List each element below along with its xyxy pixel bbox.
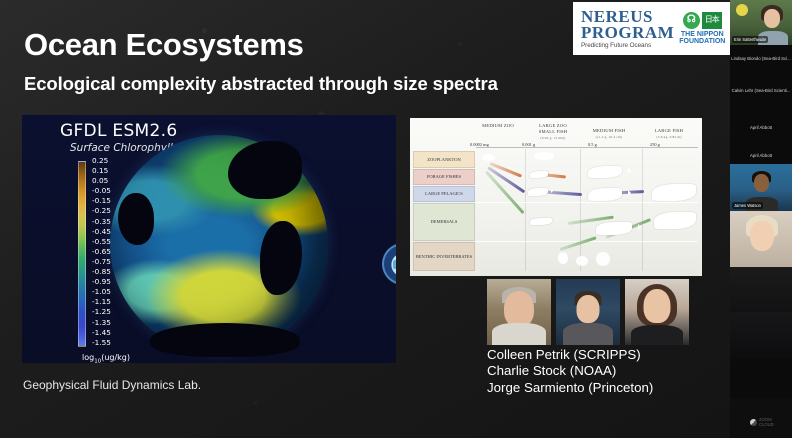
mass-tick-3: 250 g <box>650 142 660 147</box>
participant-4-name: April Abbott <box>750 153 772 158</box>
participant-tile-0[interactable]: Erin Satterthwaite <box>730 0 792 45</box>
mass-tick-1: 0.001 g <box>522 142 535 147</box>
photo-charlie-stock <box>556 279 620 345</box>
colorbar-tick-12: -0.95 <box>92 277 138 287</box>
landmass-antarctica <box>150 323 300 357</box>
organism-large-demersal <box>654 212 696 229</box>
organism-large-pelagic <box>652 184 696 201</box>
photo-3-face <box>644 289 671 323</box>
group-row-benthic-invertebrates: BENTHIC INVERTEBRATES <box>413 242 475 271</box>
size-spectra-diagram: MEDIUM ZOO LARGE ZOO SMALL FISH (0.02 g,… <box>410 118 702 276</box>
participant-2-name: Calvin Lehr (Sea-Bird Scienti... <box>732 88 791 93</box>
size-class-header-0: MEDIUM ZOO <box>472 123 524 129</box>
badge-inner-shape <box>393 260 396 269</box>
participant-0-badge-icon <box>736 4 748 16</box>
participant-tile-4[interactable]: April Abbott <box>730 146 792 164</box>
participant-1-name: Lindsay Biondo (Sea-Bird Sci... <box>731 56 790 61</box>
size-axis-line <box>476 147 698 148</box>
organism-medium-fish-2 <box>588 188 622 201</box>
photo-3-body <box>631 325 683 345</box>
participant-tile-6[interactable] <box>730 211 792 267</box>
colorbar-tick-0: 0.25 <box>92 156 138 166</box>
nippon-swirl-icon: ☊ <box>683 12 700 29</box>
zoom-meeting-screen: Ocean Ecosystems Ecological complexity a… <box>0 0 792 438</box>
group-row-zooplankton: ZOOPLANKTON <box>413 151 475 168</box>
colorbar-tick-labels: 0.250.150.05-0.05-0.15-0.25-0.35-0.45-0.… <box>92 156 138 352</box>
chlorophyll-colorbar <box>78 161 86 347</box>
colorbar-tick-17: -1.45 <box>92 328 138 338</box>
size-class-header-1: LARGE ZOO SMALL FISH (0.02 g, 13 mm) <box>527 123 579 141</box>
colorbar-tick-11: -0.85 <box>92 267 138 277</box>
nereus-wordmark: NEREUS PROGRAM Predicting Future Oceans <box>581 8 674 49</box>
shared-slide: Ocean Ecosystems Ecological complexity a… <box>0 0 730 438</box>
colorbar-tick-7: -0.45 <box>92 227 138 237</box>
photo-jorge-sarmiento <box>625 279 689 345</box>
participant-tile-1[interactable]: Lindsay Biondo (Sea-Bird Sci... <box>730 45 792 72</box>
mass-tick-2: 0.5 g <box>588 142 597 147</box>
nippon-mark: ☊ 日本 <box>683 12 722 29</box>
colorbar-unit-rest: (ug/kg) <box>101 353 130 362</box>
photo-colleen-petrik <box>487 279 551 345</box>
organism-zooplankton-1 <box>482 154 495 161</box>
organism-benthic-1 <box>558 252 568 264</box>
colorbar-tick-15: -1.25 <box>92 307 138 317</box>
nippon-foundation-logo: ☊ 日本 THE NIPPON FOUNDATION <box>679 12 725 46</box>
size-class-divider-3 <box>642 149 643 271</box>
colorbar-tick-14: -1.15 <box>92 297 138 307</box>
colorbar-tick-13: -1.05 <box>92 287 138 297</box>
colorbar-unit-main: log <box>82 353 94 362</box>
watermark-line-2: CLOUD <box>759 423 774 428</box>
page-subtitle: Ecological complexity abstracted through… <box>24 73 498 95</box>
size-class-divider-2 <box>580 149 581 271</box>
organism-benthic-3 <box>596 252 610 266</box>
mass-tick-0: 0.0002 mg <box>470 142 489 147</box>
page-title: Ocean Ecosystems <box>24 27 304 63</box>
colorbar-tick-9: -0.65 <box>92 247 138 257</box>
collaborator-name-1: Charlie Stock (NOAA) <box>487 363 653 379</box>
participant-3-name: April Abbott <box>750 125 772 130</box>
colorbar-tick-16: -1.35 <box>92 318 138 328</box>
size-class-header-2: MEDIUM FISH (11.2 g, 10.4 cm) <box>582 128 636 140</box>
collaborator-name-2: Jorge Sarmiento (Princeton) <box>487 380 653 396</box>
organism-small-fish-1 <box>530 171 548 178</box>
colorbar-unit-label: log10(ug/kg) <box>82 353 130 363</box>
photo-2-body <box>563 323 613 345</box>
colorbar-tick-2: 0.05 <box>92 176 138 186</box>
participant-tile-8[interactable] <box>730 312 792 358</box>
organism-small-fish-2 <box>528 188 548 196</box>
collaborator-name-0: Colleen Petrik (SCRIPPS) <box>487 347 653 363</box>
participant-tile-3[interactable]: April Abbott <box>730 108 792 146</box>
nippon-logo-line1: THE NIPPON <box>681 31 724 38</box>
colorbar-tick-10: -0.75 <box>92 257 138 267</box>
photo-1-body <box>492 323 546 345</box>
participant-filmstrip[interactable]: Erin Satterthwaite Lindsay Biondo (Sea-B… <box>730 0 792 438</box>
participant-tile-5[interactable]: James Watson <box>730 164 792 211</box>
participant-0-face <box>764 9 780 28</box>
organism-zooplankton-2 <box>534 152 554 160</box>
gfdl-globe-figure: GFDL ESM2.6 Surface Chlorophyll 0.250.15… <box>22 115 396 363</box>
colorbar-tick-4: -0.15 <box>92 196 138 206</box>
colorbar-tick-1: 0.15 <box>92 166 138 176</box>
photo-2-face <box>577 295 600 323</box>
nereus-logo-tagline: Predicting Future Oceans <box>581 43 674 49</box>
nippon-kanji-icon: 日本 <box>702 12 722 29</box>
group-row-demersals: DEMERSALS <box>413 203 475 241</box>
size-class-divider-1 <box>525 149 526 271</box>
zoom-logo-icon <box>750 419 757 426</box>
nereus-logo-line2: PROGRAM <box>581 24 674 41</box>
nereus-circular-badge-icon <box>382 243 396 285</box>
landmass-south-america <box>260 221 302 295</box>
zoom-watermark-text: ZOOM CLOUD <box>759 418 774 427</box>
organism-medium-demersal <box>596 222 632 235</box>
organism-medium-fish-1 <box>588 166 622 178</box>
colorbar-tick-18: -1.55 <box>92 338 138 348</box>
collaborator-photos <box>487 279 689 345</box>
colorbar-tick-5: -0.25 <box>92 206 138 216</box>
participant-tile-2[interactable]: Calvin Lehr (Sea-Bird Scienti... <box>730 72 792 108</box>
colorbar-tick-6: -0.35 <box>92 217 138 227</box>
participant-5-face <box>754 174 769 192</box>
figure-caption: Geophysical Fluid Dynamics Lab. <box>23 378 201 392</box>
group-row-large-pelagics: LARGE PELAGICS <box>413 186 475 202</box>
nereus-program-logo: NEREUS PROGRAM Predicting Future Oceans … <box>573 2 738 55</box>
gfdl-variable-label: Surface Chlorophyll <box>70 142 173 154</box>
participant-tile-7[interactable] <box>730 267 792 312</box>
group-row-forage-fishes: FORAGE FISHES <box>413 169 475 185</box>
nippon-logo-line2: FOUNDATION <box>679 38 725 45</box>
colorbar-tick-3: -0.05 <box>92 186 138 196</box>
participant-tile-9[interactable] <box>730 358 792 398</box>
collaborator-names: Colleen Petrik (SCRIPPS) Charlie Stock (… <box>487 347 653 396</box>
gfdl-model-title: GFDL ESM2.6 <box>60 121 177 141</box>
colorbar-tick-8: -0.55 <box>92 237 138 247</box>
organism-demersal-small <box>530 218 552 225</box>
participant-6-face <box>750 221 774 251</box>
photo-1-face <box>504 291 534 327</box>
group-divider-1 <box>476 202 698 203</box>
earth-globe-visualization <box>110 135 328 353</box>
landmass-north-america <box>228 141 302 199</box>
flow-arrow-green-4 <box>560 236 597 251</box>
zoom-cloud-watermark: ZOOM CLOUD <box>750 418 774 427</box>
participant-0-name: Erin Satterthwaite <box>732 36 768 43</box>
organism-benthic-2 <box>576 256 588 266</box>
size-class-header-3: LARGE FISH (3.6 kg, 0.82 m) <box>642 128 696 140</box>
participant-5-name: James Watson <box>732 202 763 209</box>
